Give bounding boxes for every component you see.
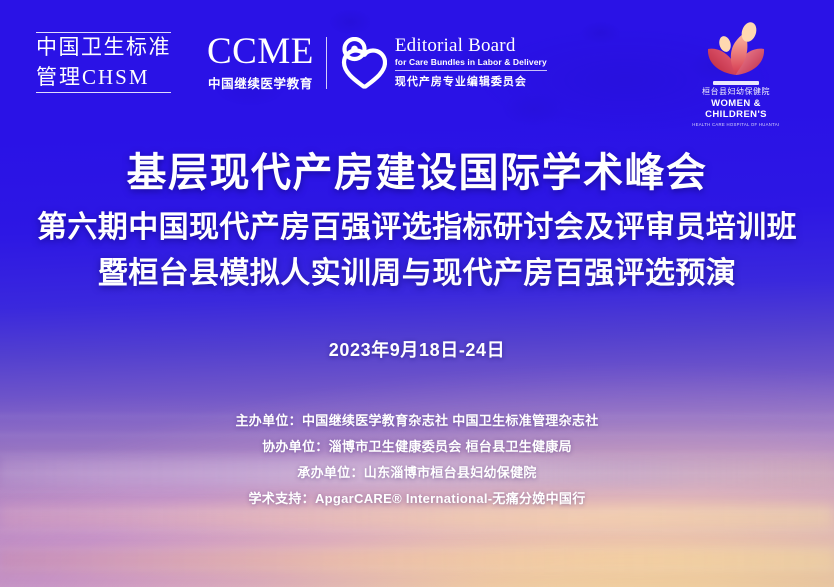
credit-academic-support-value: ApgarCARE® International-无痛分娩中国行 [315,491,586,506]
chsm-rule-bottom [36,92,171,93]
hospital-logo: 桓台县妇幼保健院 WOMEN & CHILDREN'S HEALTH CARE … [680,22,792,127]
editorial-board-text: Editorial Board for Care Bundles in Labo… [395,36,547,89]
conference-poster: 中国卫生标准 管理CHSM CCME 中国继续医学教育 Editorial Bo… [0,0,834,587]
credit-coorganizer-value: 淄博市卫生健康委员会 桓台县卫生健康局 [329,439,572,454]
ccme-logo: CCME 中国继续医学教育 [207,33,314,92]
editorial-board-logo: Editorial Board for Care Bundles in Labo… [339,36,547,89]
header-logo-bar: 中国卫生标准 管理CHSM CCME 中国继续医学教育 Editorial Bo… [36,28,547,97]
ccme-acronym: CCME [207,33,314,70]
credit-academic-support-label: 学术支持： [248,491,315,506]
chsm-line-1: 中国卫生标准 [36,33,171,63]
subtitle-line-1: 第六期中国现代产房百强评选指标研讨会及评审员培训班 [0,210,834,246]
logo-divider [326,37,327,89]
credit-host-value: 山东淄博市桓台县妇幼保健院 [364,465,537,480]
subtitle-line-2: 暨桓台县模拟人实训周与现代产房百强评选预演 [0,256,834,292]
credit-organizer: 主办单位：中国继续医学教育杂志社 中国卫生标准管理杂志社 [0,414,834,427]
hospital-tagline: HEALTH CARE HOSPITAL OF HUANTAI [692,122,779,127]
editorial-board-title: Editorial Board [395,36,547,56]
event-date: 2023年9月18日-24日 [0,336,834,362]
editorial-board-subtitle: for Care Bundles in Labor & Delivery [395,57,547,67]
title-block: 基层现代产房建设国际学术峰会 第六期中国现代产房百强评选指标研讨会及评审员培训班… [0,150,834,362]
credit-academic-support: 学术支持：ApgarCARE® International-无痛分娩中国行 [0,492,834,505]
editorial-board-chinese: 现代产房专业编辑委员会 [395,73,547,89]
credit-coorganizer: 协办单位：淄博市卫生健康委员会 桓台县卫生健康局 [0,440,834,453]
credit-host: 承办单位：山东淄博市桓台县妇幼保健院 [0,466,834,479]
heart-baby-icon [339,37,387,89]
main-title: 基层现代产房建设国际学术峰会 [0,150,834,197]
credit-coorganizer-label: 协办单位： [262,439,329,454]
chsm-line-2: 管理CHSM [36,63,171,93]
hospital-logo-rule [713,81,759,85]
credits-block: 主办单位：中国继续医学教育杂志社 中国卫生标准管理杂志社 协办单位：淄博市卫生健… [0,414,834,505]
ccme-subtitle: 中国继续医学教育 [208,73,313,92]
credit-organizer-value: 中国继续医学教育杂志社 中国卫生标准管理杂志社 [302,413,599,428]
editorial-board-rule [395,70,547,71]
chsm-logo: 中国卫生标准 管理CHSM [36,28,185,97]
credit-organizer-label: 主办单位： [235,413,302,428]
hospital-name-english: WOMEN & CHILDREN'S [680,98,792,121]
credit-host-label: 承办单位： [297,465,364,480]
lotus-flower-icon [699,22,773,80]
hospital-name-chinese: 桓台县妇幼保健院 [702,88,770,97]
